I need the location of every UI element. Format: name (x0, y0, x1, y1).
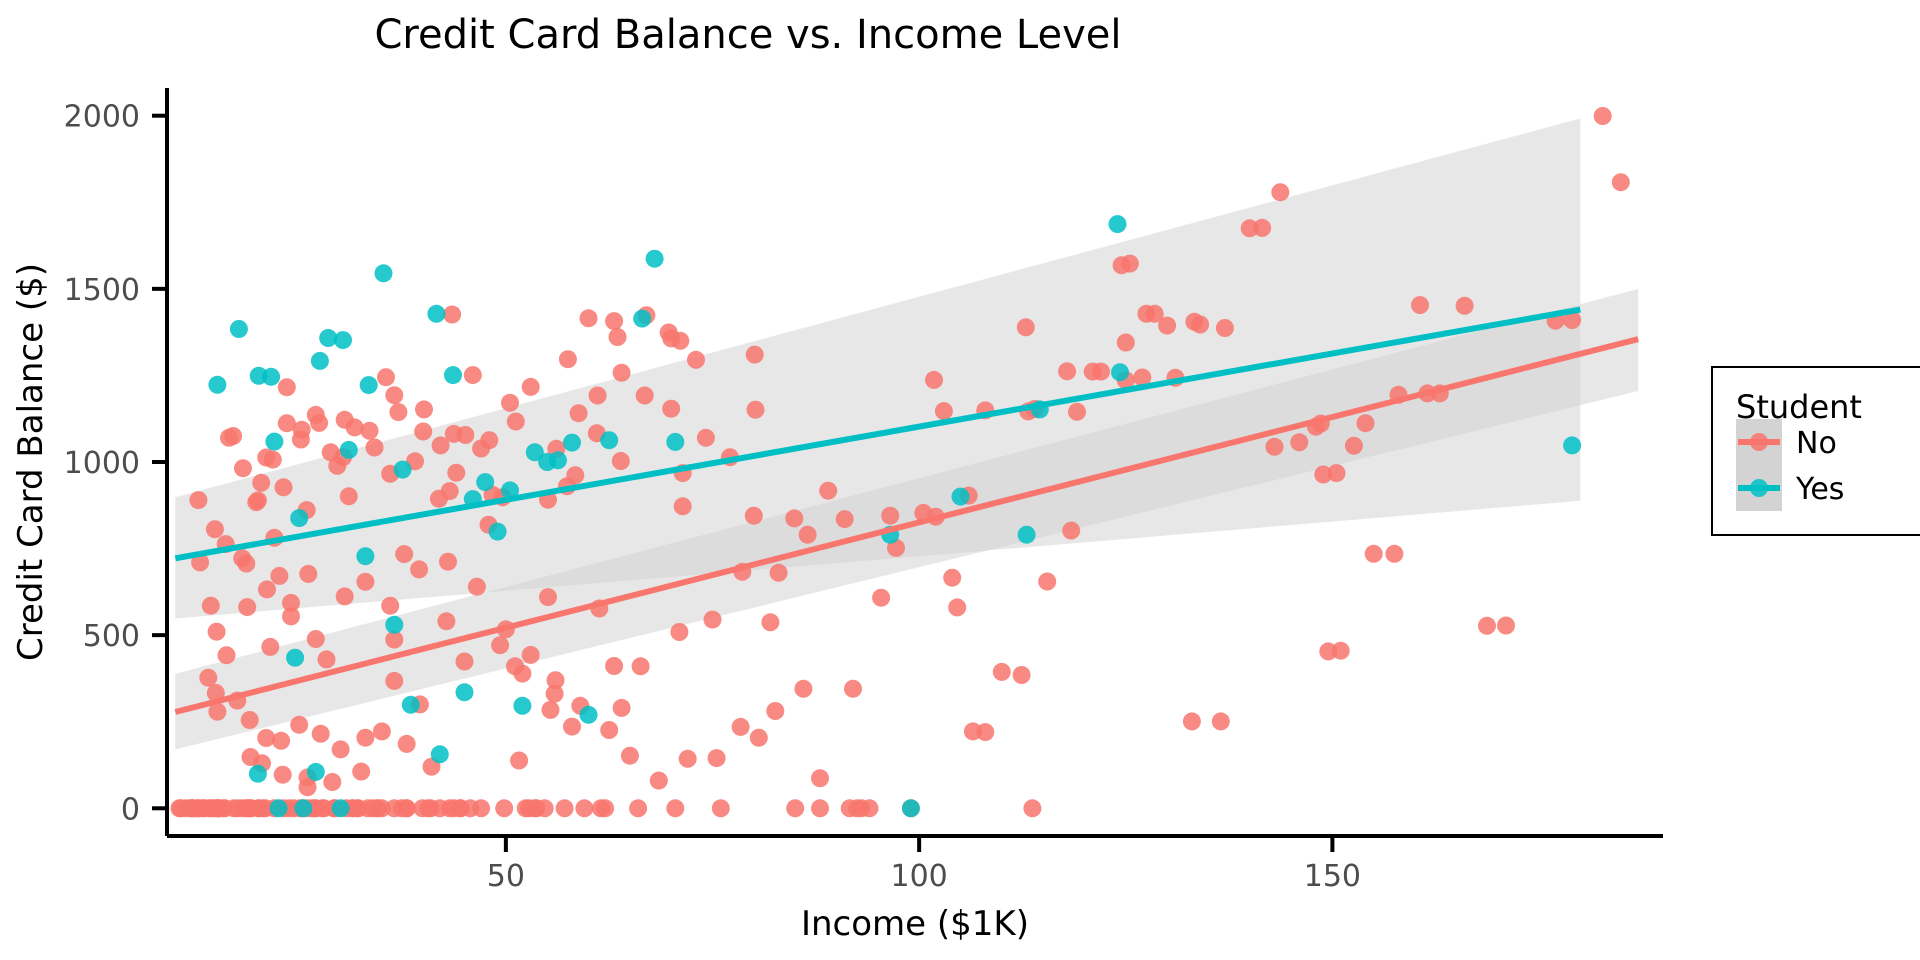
data-point (340, 441, 358, 459)
data-point (513, 665, 531, 683)
data-point (385, 616, 403, 634)
data-point (323, 773, 341, 791)
data-point (270, 567, 288, 585)
data-point (539, 588, 557, 606)
data-point (414, 423, 432, 441)
data-point (1058, 362, 1076, 380)
data-point (1319, 642, 1337, 660)
data-point (218, 646, 236, 664)
data-point (666, 799, 684, 817)
data-point (220, 429, 238, 447)
data-point (563, 718, 581, 736)
data-point (1109, 215, 1127, 233)
data-point (697, 429, 715, 447)
data-point (948, 598, 966, 616)
data-point (542, 701, 560, 719)
data-point (1612, 173, 1630, 191)
data-point (1216, 319, 1234, 337)
data-point (437, 612, 455, 630)
data-point (621, 747, 639, 765)
data-point (650, 772, 668, 790)
data-point (290, 509, 308, 527)
data-point (419, 799, 437, 817)
data-point (747, 401, 765, 419)
data-point (687, 351, 705, 369)
data-point (526, 443, 544, 461)
data-point (1158, 317, 1176, 335)
data-point (340, 487, 358, 505)
data-point (264, 451, 282, 469)
data-point (307, 406, 325, 424)
data-point (356, 547, 374, 565)
data-point (785, 509, 803, 527)
data-point (282, 607, 300, 625)
data-point (522, 378, 540, 396)
data-point (199, 669, 217, 687)
data-point (600, 721, 618, 739)
data-point (674, 497, 692, 515)
data-point (708, 749, 726, 767)
data-point (352, 763, 370, 781)
data-point (575, 799, 593, 817)
data-point (1357, 414, 1375, 432)
data-point (566, 466, 584, 484)
data-point (925, 371, 943, 389)
data-point (993, 663, 1011, 681)
data-point (274, 766, 292, 784)
data-point (811, 769, 829, 787)
data-point (427, 305, 445, 323)
credit-card-balance-scatter-plot: Credit Card Balance vs. Income Level 050… (0, 0, 1920, 960)
data-point (1018, 526, 1036, 544)
legend-key-point (1750, 479, 1768, 497)
data-point (1456, 297, 1474, 315)
data-point (286, 649, 304, 667)
data-point (398, 735, 416, 753)
data-point (1183, 712, 1201, 730)
data-point (1385, 545, 1403, 563)
data-point (489, 523, 507, 541)
data-point (461, 799, 479, 817)
data-point (206, 520, 224, 538)
data-point (1191, 316, 1209, 334)
data-point (1478, 617, 1496, 635)
data-point (394, 461, 412, 479)
data-point (385, 386, 403, 404)
data-point (632, 657, 650, 675)
data-point (278, 378, 296, 396)
data-point (456, 653, 474, 671)
data-point (559, 350, 577, 368)
data-point (592, 799, 610, 817)
data-point (563, 434, 581, 452)
data-point (1212, 712, 1230, 730)
data-point (750, 729, 768, 747)
data-point (662, 329, 680, 347)
data-point (356, 573, 374, 591)
data-point (208, 376, 226, 394)
data-point (1111, 363, 1129, 381)
x-axis-title: Income ($1K) (801, 904, 1029, 944)
data-point (636, 387, 654, 405)
data-point (381, 597, 399, 615)
data-point (385, 672, 403, 690)
data-point (1345, 437, 1363, 455)
data-point (1017, 318, 1035, 336)
y-tick-label: 2000 (64, 100, 140, 135)
data-point (679, 750, 697, 768)
data-point (293, 421, 311, 439)
data-point (501, 394, 519, 412)
data-point (307, 763, 325, 781)
legend-item-label: Yes (1795, 472, 1844, 507)
data-point (395, 545, 413, 563)
data-point (369, 799, 387, 817)
data-point (322, 443, 340, 461)
data-point (633, 310, 651, 328)
data-point (439, 553, 457, 571)
data-point (943, 569, 961, 587)
data-point (318, 650, 336, 668)
data-point (410, 560, 428, 578)
data-point (520, 799, 538, 817)
data-point (1411, 296, 1429, 314)
data-point (1062, 522, 1080, 540)
data-point (613, 364, 631, 382)
data-point (507, 413, 525, 431)
data-point (1013, 666, 1031, 684)
data-point (270, 799, 288, 817)
data-point (770, 564, 788, 582)
data-point (290, 716, 308, 734)
data-point (745, 507, 763, 525)
data-point (214, 799, 232, 817)
data-point (662, 400, 680, 418)
data-point (609, 328, 627, 346)
data-point (183, 799, 201, 817)
data-point (189, 491, 207, 509)
data-point (443, 306, 461, 324)
y-tick-label: 1500 (64, 273, 140, 308)
data-point (1266, 438, 1284, 456)
data-point (522, 646, 540, 664)
chart-container: Credit Card Balance vs. Income Level 050… (0, 0, 1920, 960)
y-tick-label: 1000 (64, 446, 140, 481)
data-point (1113, 256, 1131, 274)
data-point (549, 451, 567, 469)
data-point (1563, 436, 1581, 454)
data-point (589, 387, 607, 405)
data-point (373, 722, 391, 740)
data-point (240, 799, 258, 817)
data-point (332, 799, 350, 817)
data-point (646, 250, 664, 268)
x-tick-label: 150 (1304, 859, 1361, 894)
data-point (272, 732, 290, 750)
data-point (262, 368, 280, 386)
data-point (844, 680, 862, 698)
data-point (480, 431, 498, 449)
data-point (964, 722, 982, 740)
data-point (580, 706, 598, 724)
data-point (202, 597, 220, 615)
data-point (547, 671, 565, 689)
data-point (332, 740, 350, 758)
data-point (234, 459, 252, 477)
data-point (415, 400, 433, 418)
data-point (510, 752, 528, 770)
data-point (811, 799, 829, 817)
data-point (336, 411, 354, 429)
data-point (444, 366, 462, 384)
data-point (1328, 464, 1346, 482)
data-point (495, 799, 513, 817)
data-point (1023, 799, 1041, 817)
data-point (319, 329, 337, 347)
x-tick-label: 100 (890, 859, 947, 894)
data-point (307, 630, 325, 648)
data-point (580, 309, 598, 327)
data-point (881, 507, 899, 525)
data-point (233, 549, 251, 567)
data-point (389, 403, 407, 421)
data-point (258, 580, 276, 598)
data-point (311, 352, 329, 370)
x-tick-label: 50 (487, 859, 525, 894)
y-axis-title: Credit Card Balance ($) (11, 263, 51, 661)
data-point (712, 799, 730, 817)
data-point (513, 697, 531, 715)
data-point (799, 526, 817, 544)
data-point (299, 778, 317, 796)
data-point (476, 473, 494, 491)
data-point (1497, 617, 1515, 635)
data-point (952, 488, 970, 506)
data-point (432, 436, 450, 454)
data-point (294, 799, 312, 817)
data-point (1137, 305, 1155, 323)
data-point (208, 623, 226, 641)
data-point (1271, 183, 1289, 201)
data-point (361, 422, 379, 440)
data-point (1038, 573, 1056, 591)
y-tick-label: 500 (83, 619, 140, 654)
data-point (819, 482, 837, 500)
data-point (257, 729, 275, 747)
data-point (456, 426, 474, 444)
data-point (670, 623, 688, 641)
data-point (393, 799, 411, 817)
data-point (249, 765, 267, 783)
data-point (629, 799, 647, 817)
data-point (872, 589, 890, 607)
data-point (732, 718, 750, 736)
data-point (1253, 219, 1271, 237)
data-point (1068, 403, 1086, 421)
data-point (275, 478, 293, 496)
legend[interactable]: Student NoYes (1712, 367, 1920, 535)
data-point (935, 402, 953, 420)
data-point (666, 433, 684, 451)
data-point (431, 745, 449, 763)
data-point (252, 474, 270, 492)
data-point (836, 510, 854, 528)
data-point (356, 729, 374, 747)
data-point (402, 696, 420, 714)
data-point (241, 711, 259, 729)
data-point (766, 702, 784, 720)
data-point (265, 433, 283, 451)
data-point (468, 578, 486, 596)
data-point (336, 587, 354, 605)
data-point (312, 725, 330, 743)
data-point (1594, 107, 1612, 125)
data-point (612, 452, 630, 470)
data-point (536, 799, 554, 817)
data-point (491, 636, 509, 654)
data-point (794, 680, 812, 698)
data-point (902, 799, 920, 817)
data-point (447, 464, 465, 482)
data-point (1117, 334, 1135, 352)
data-point (230, 320, 248, 338)
data-point (375, 264, 393, 282)
y-tick-label: 0 (121, 792, 140, 827)
data-point (848, 799, 866, 817)
legend-item-label: No (1796, 426, 1837, 461)
data-point (430, 490, 448, 508)
data-point (261, 638, 279, 656)
data-point (605, 657, 623, 675)
data-point (299, 565, 317, 583)
data-point (249, 491, 267, 509)
data-point (1092, 363, 1110, 381)
data-point (786, 799, 804, 817)
data-point (570, 404, 588, 422)
data-point (761, 613, 779, 631)
legend-key-point (1750, 433, 1768, 451)
data-point (238, 598, 256, 616)
data-point (613, 699, 631, 717)
page-title: Credit Card Balance vs. Income Level (375, 12, 1122, 58)
data-point (600, 431, 618, 449)
data-point (1365, 545, 1383, 563)
data-point (464, 366, 482, 384)
data-point (556, 799, 574, 817)
data-point (605, 312, 623, 330)
data-point (1290, 433, 1308, 451)
data-point (746, 346, 764, 364)
data-point (377, 368, 395, 386)
data-point (360, 376, 378, 394)
data-point (366, 439, 384, 457)
data-point (704, 611, 722, 629)
data-point (456, 683, 474, 701)
